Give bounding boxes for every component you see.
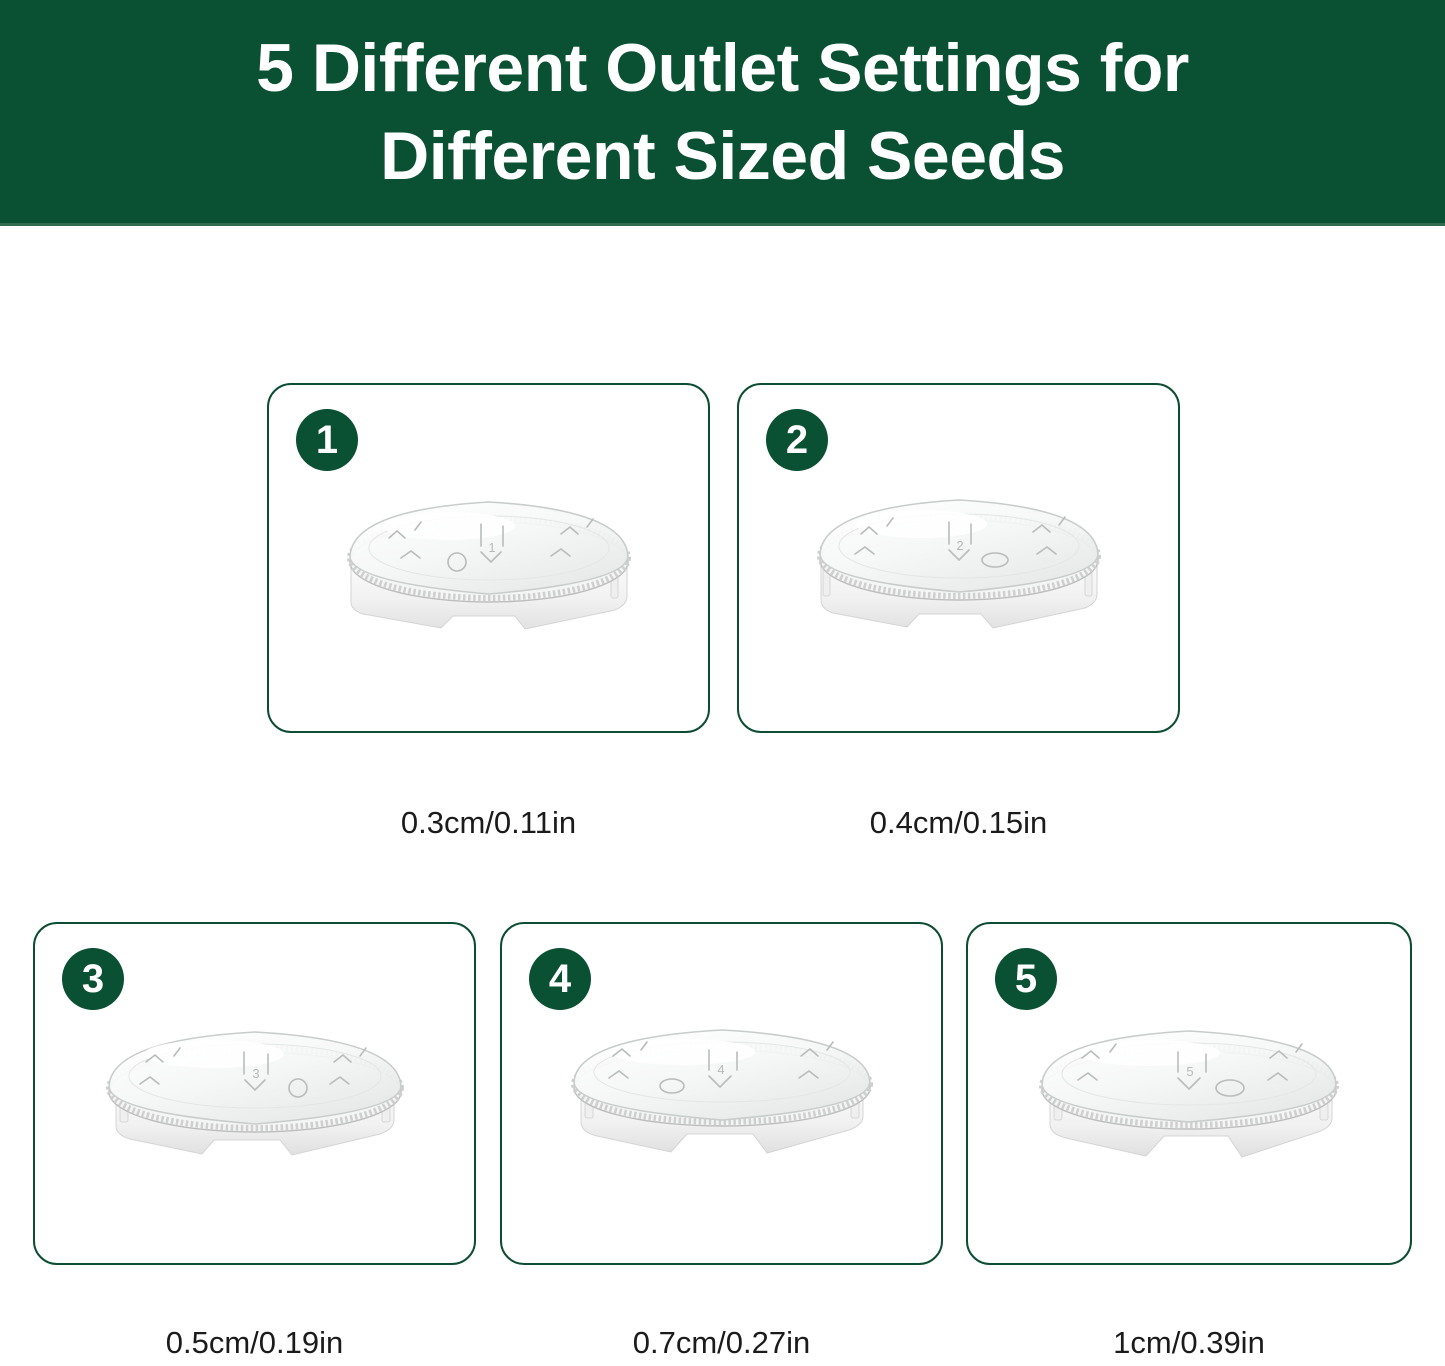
step-badge-1: 1 xyxy=(296,409,358,471)
size-label-1: 0.3cm/0.11in xyxy=(267,806,710,840)
setting-card-1[interactable]: 1 xyxy=(267,383,710,733)
header-banner: 5 Different Outlet Settings for Differen… xyxy=(0,0,1445,226)
seed-dial-cap-icon: 5 xyxy=(1024,1022,1354,1192)
step-badge-2: 2 xyxy=(766,409,828,471)
dial-front-number-4: 4 xyxy=(717,1062,724,1077)
page-title-line-1: 5 Different Outlet Settings for xyxy=(256,24,1189,112)
product-image-2: 2 xyxy=(739,490,1178,660)
seed-dial-cap-icon: 2 xyxy=(799,490,1119,660)
dial-front-number-1: 1 xyxy=(488,540,495,555)
seed-dial-cap-icon: 3 xyxy=(90,1022,420,1192)
step-badge-3: 3 xyxy=(62,948,124,1010)
product-image-1: 1 xyxy=(269,490,708,660)
page-title-line-2: Different Sized Seeds xyxy=(380,112,1065,200)
setting-card-5[interactable]: 5 xyxy=(966,922,1412,1265)
seed-dial-cap-icon: 1 xyxy=(329,490,649,660)
size-label-2: 0.4cm/0.15in xyxy=(737,806,1180,840)
product-image-3: 3 xyxy=(35,1022,474,1192)
product-image-5: 5 xyxy=(968,1022,1410,1192)
dial-front-number-2: 2 xyxy=(956,538,963,553)
size-label-5: 1cm/0.39in xyxy=(966,1326,1412,1360)
size-label-4: 0.7cm/0.27in xyxy=(500,1326,943,1360)
dial-front-number-3: 3 xyxy=(252,1066,259,1081)
size-label-3: 0.5cm/0.19in xyxy=(33,1326,476,1360)
setting-card-3[interactable]: 3 xyxy=(33,922,476,1265)
setting-card-4[interactable]: 4 xyxy=(500,922,943,1265)
seed-dial-cap-icon: 4 xyxy=(557,1022,887,1192)
step-badge-4: 4 xyxy=(529,948,591,1010)
product-image-4: 4 xyxy=(502,1022,941,1192)
step-badge-5: 5 xyxy=(995,948,1057,1010)
dial-front-number-5: 5 xyxy=(1186,1064,1193,1079)
setting-card-2[interactable]: 2 xyxy=(737,383,1180,733)
